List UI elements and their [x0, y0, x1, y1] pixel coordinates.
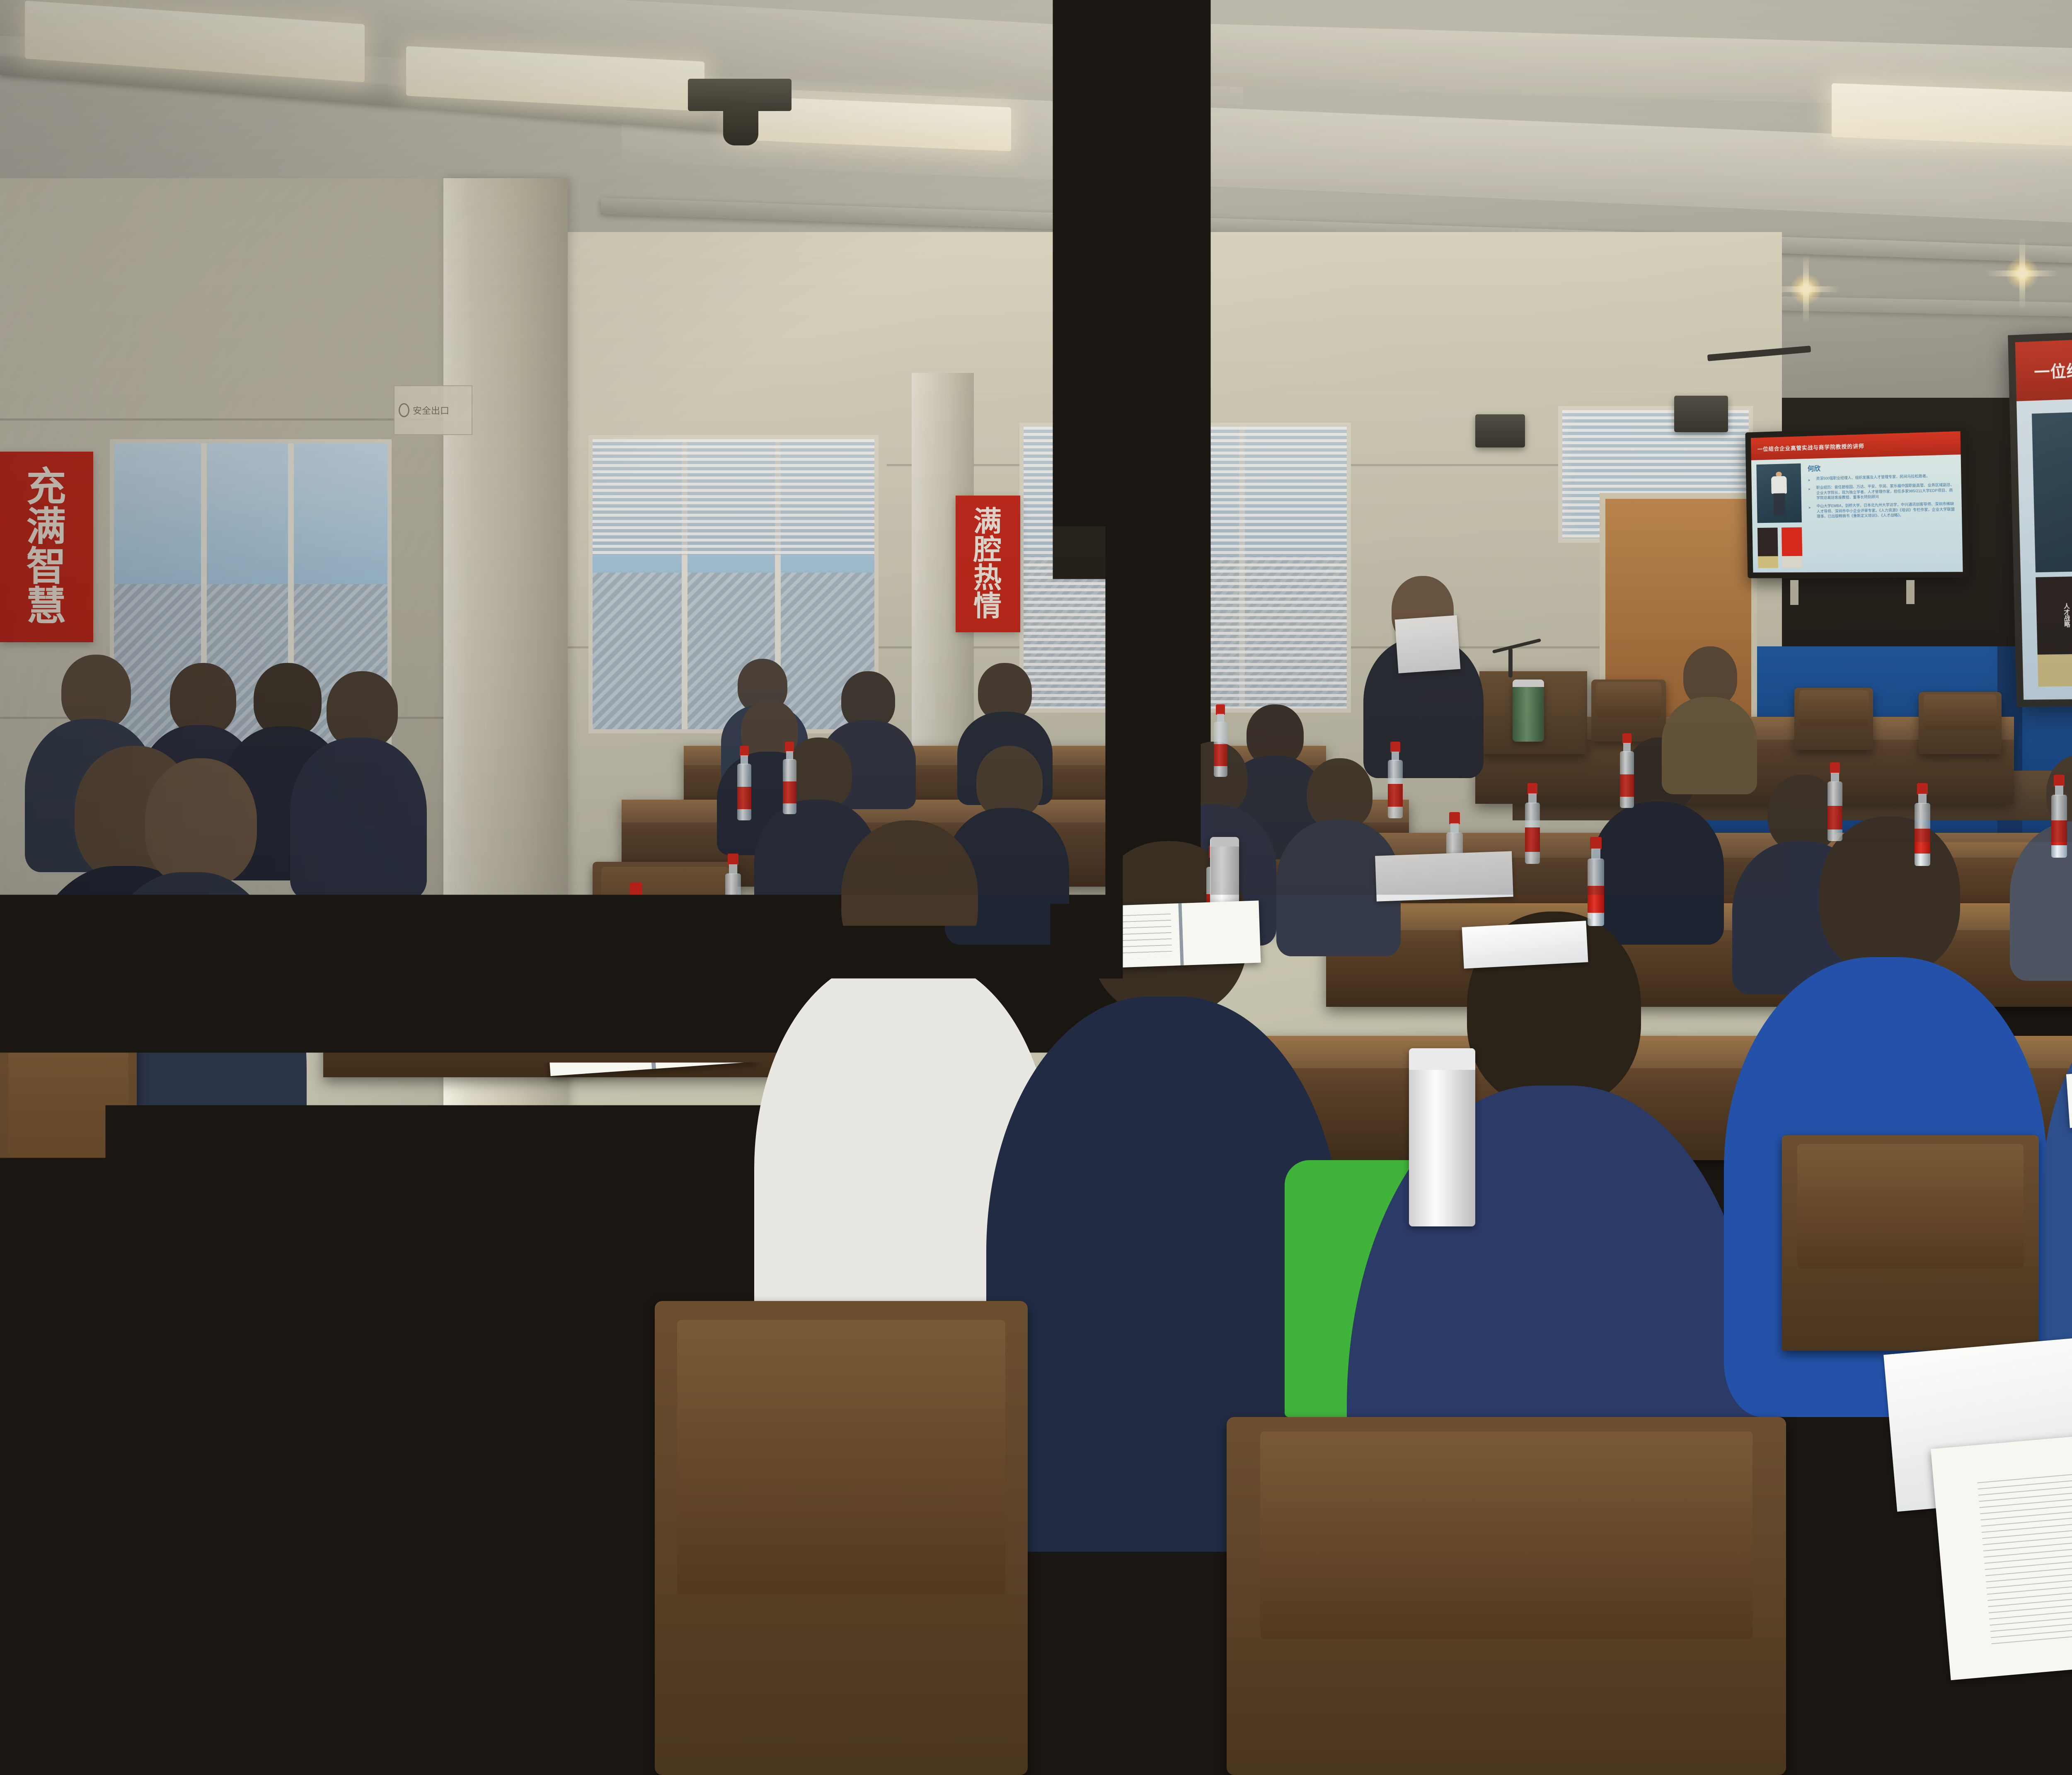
slide-bullet: ➤ 中山大学EMBA，剑桥大学、日本北九州大学访学，中兴通讯创客导师、深圳市稀缺… [1808, 501, 1956, 520]
left-wall-monitor: 一位结合企业高管实战与商学院教授的讲师 何欣 ➤ 资深500强职业经理人、组 [1745, 425, 1969, 578]
stage-chair [1794, 688, 1873, 750]
speaker-portrait [1757, 463, 1802, 522]
empty-chair [593, 862, 738, 986]
water-bottle[interactable] [622, 883, 651, 982]
open-notebook[interactable] [1101, 900, 1261, 968]
exit-sign-label: 安全出口 [413, 404, 449, 417]
slide-content: 一位结合企业高管实战与商学院教授的讲师 人才战略 人才战略 [2015, 319, 2072, 700]
banner-char: 腔 [973, 536, 1002, 564]
banner-char: 满 [973, 508, 1002, 536]
spot-downlight [2006, 257, 2039, 290]
bullet-text: 资深500强职业经理人、组织发展及人才管理专家、民间马拉松跑者。 [1816, 474, 1930, 483]
main-projection-screen: 一位结合企业高管实战与商学院教授的讲师 人才战略 人才战略 [2008, 311, 2072, 707]
book-cover-right [1782, 527, 1803, 568]
audience-member [1662, 646, 1757, 787]
speaker-portrait [2031, 409, 2072, 572]
window-mid-right [1019, 423, 1351, 713]
wall-banner-left: 充 满 智 慧 [0, 452, 93, 642]
slide-body: 何欣 ➤ 资深500强职业经理人、组织发展及人才管理专家、民间马拉松跑者。 ➤ … [1751, 455, 1963, 573]
empty-chair [655, 1301, 1028, 1775]
bullet-chevron-icon: ➤ [1808, 504, 1811, 520]
water-bottle[interactable] [1086, 775, 1110, 858]
banner-char: 充 [27, 467, 67, 507]
bullet-text: 中山大学EMBA，剑桥大学、日本北九州大学访学，中兴通讯创客导师、深圳市稀缺人才… [1817, 501, 1956, 519]
book-cover-left: 人才战略 [2036, 576, 2072, 687]
microphone-stand [1508, 648, 1513, 677]
presenter-handout [1395, 615, 1461, 673]
monitor-stand [1906, 580, 1915, 604]
water-bottle[interactable] [1823, 762, 1847, 841]
water-bottle[interactable] [2047, 775, 2071, 858]
structural-pillar [443, 178, 568, 1297]
monitor-stand [1790, 580, 1798, 605]
slide-bullet: ➤ 职业经历：曾任碧桂园、万达、平安、华润、家乐福中国职能高管、业务区域副总、企… [1808, 482, 1956, 501]
bullet-text: 职业经历：曾任碧桂园、万达、平安、华润、家乐福中国职能高管、业务区域副总、企业大… [1816, 482, 1956, 501]
slide-content-mirror: 一位结合企业高管实战与商学院教授的讲师 何欣 ➤ 资深500强职业经理人、组 [1751, 431, 1963, 573]
slide-media-column: 人才战略 人才战略 [2031, 409, 2072, 687]
spot-downlight [1790, 273, 1822, 305]
exit-sign: 安全出口 [394, 385, 472, 435]
wall-speaker [1674, 396, 1728, 432]
slide-media-column [1757, 463, 1803, 568]
banner-char: 情 [973, 592, 1002, 620]
water-bottle[interactable] [1521, 783, 1544, 864]
speaker-name: 何欣 [1808, 459, 1956, 473]
slide-bullet: ➤ 资深500强职业经理人、组织发展及人才管理专家、民间马拉松跑者。 [1808, 473, 1956, 482]
slide-text-column: 何欣 ➤ 资深500强职业经理人、组织发展及人才管理专家、民间马拉松跑者。 ➤ … [1801, 459, 1957, 568]
exit-sign-icon [399, 403, 409, 417]
book-covers: 人才战略 人才战略 [2036, 575, 2072, 687]
presenter-at-podium [1363, 576, 1484, 775]
floor [0, 1367, 580, 1775]
water-bottle[interactable] [1384, 742, 1406, 818]
book-left-title: 人才战略 [2036, 576, 2072, 655]
banner-char: 智 [27, 547, 67, 587]
book-covers [1757, 527, 1802, 568]
thermos-flask[interactable] [1409, 1048, 1475, 1226]
water-bottle[interactable] [721, 854, 745, 936]
empty-chair [1227, 1417, 1786, 1775]
banner-char: 热 [973, 564, 1002, 592]
kettle[interactable] [1513, 680, 1544, 742]
water-bottle[interactable] [1910, 783, 1934, 866]
banner-char: 慧 [27, 587, 67, 626]
desk-papers[interactable] [338, 953, 516, 1028]
stage-chair [1591, 680, 1666, 742]
wall-speaker [1475, 414, 1525, 447]
wall-banner-mid: 满 腔 热 情 [956, 496, 1020, 632]
bullet-chevron-icon: ➤ [1808, 485, 1811, 501]
water-bottle[interactable] [779, 742, 800, 814]
desk-papers[interactable] [1375, 851, 1513, 901]
desk-papers[interactable] [1462, 921, 1588, 969]
stage-chair [1919, 692, 2002, 754]
water-bottle[interactable] [1210, 704, 1231, 777]
empty-chair [1782, 1135, 2039, 1351]
water-bottle[interactable] [1616, 733, 1638, 808]
audience-member-foreground [2043, 829, 2072, 1417]
banner-char: 满 [27, 507, 67, 547]
water-bottle[interactable] [733, 746, 755, 820]
slide-body: 人才战略 人才战略 何欣 ➤ 资深500强职业经理人、组织发展及人才管理专家、民… [2016, 381, 2072, 700]
lecture-hall-photo: 安全出口 充 满 智 慧 满 腔 热 情 一位结合企业高管实战与商学院教授的讲师 [0, 0, 2072, 1775]
book-cover-left [1757, 527, 1778, 568]
ceiling-security-camera [688, 79, 792, 141]
water-bottle[interactable] [1583, 837, 1609, 926]
audience-member [290, 671, 427, 895]
bullet-chevron-icon: ➤ [1808, 476, 1811, 483]
